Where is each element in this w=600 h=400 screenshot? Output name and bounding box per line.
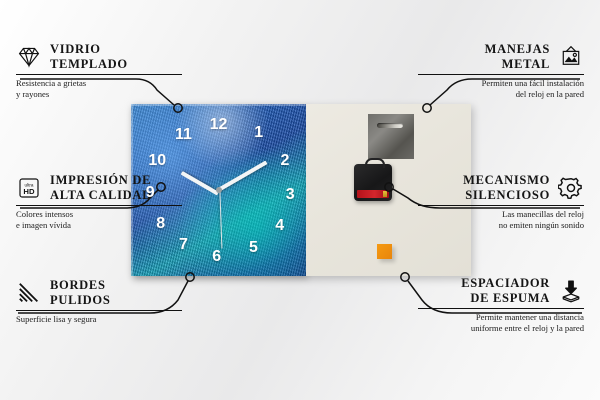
feature-rule [418,74,584,75]
clock-numeral-8: 8 [156,215,165,233]
clock-second-hand [219,191,222,249]
clock-numeral-7: 7 [179,236,188,254]
clock-numeral-6: 6 [212,248,221,266]
feature-rule [418,308,584,309]
foam-spacer [377,244,392,259]
feature-desc: Permiten una fácil instalación del reloj… [418,78,584,99]
feature-title: IMPRESIÓN DE ALTA CALIDAD [50,173,152,202]
clock-numeral-2: 2 [281,152,290,170]
clock-numeral-9: 9 [146,184,155,202]
feature-rule [16,74,182,75]
feature-mecanismo-silencioso[interactable]: MECANISMO SILENCIOSO Las manecillas del … [418,173,584,231]
clock-numeral-4: 4 [275,217,284,235]
feature-head: ESPACIADOR DE ESPUMA [418,276,584,305]
feature-desc: Superficie lisa y segura [16,314,182,325]
clock-numeral-5: 5 [249,239,258,257]
clock-hour-hand [180,171,218,195]
mechanism-loop [365,158,385,168]
feature-title: MANEJAS METAL [485,42,550,71]
clock-numeral-10: 10 [148,152,166,170]
feature-manejas-metal[interactable]: MANEJAS METAL Permiten una fácil instala… [418,42,584,100]
clock-numeral-12: 12 [210,116,228,134]
feature-title: BORDES PULIDOS [50,278,110,307]
feature-desc: Permite mantener una distancia uniforme … [418,312,584,333]
feature-head: VIDRIO TEMPLADO [16,42,182,71]
feature-head: BORDES PULIDOS [16,278,182,307]
foam-spacer-icon [558,279,584,303]
gear-icon [558,176,584,200]
feature-head: MECANISMO SILENCIOSO [418,173,584,202]
feature-head: MANEJAS METAL [418,42,584,71]
clock-center-cap [216,187,222,193]
feature-espaciador-espuma[interactable]: ESPACIADOR DE ESPUMA Permite mantener un… [418,276,584,334]
ultra-hd-icon: ultra HD [16,176,42,200]
clock-minute-hand [217,161,267,192]
feature-rule [418,205,584,206]
feature-head: ultra HD IMPRESIÓN DE ALTA CALIDAD [16,173,182,202]
wall-frame-icon [558,45,584,69]
feature-bordes-pulidos[interactable]: BORDES PULIDOS Superficie lisa y segura [16,278,182,325]
clock-numeral-11: 11 [175,126,192,144]
feature-vidrio-templado[interactable]: VIDRIO TEMPLADO Resistencia a grietas y … [16,42,182,100]
battery-label [357,190,389,198]
metal-hanger-plate [368,114,414,159]
feature-rule [16,205,182,206]
feature-rule [16,310,182,311]
infographic-stage: 12 1 2 3 4 5 6 7 8 9 10 11 [0,0,600,400]
svg-text:HD: HD [23,187,35,196]
feature-desc: Las manecillas del reloj no emiten ningú… [418,209,584,230]
polished-edges-icon [16,281,42,305]
hanger-slot [377,123,403,128]
feature-desc: Resistencia a grietas y rayones [16,78,182,99]
clock-numeral-1: 1 [254,124,263,142]
feature-title: ESPACIADOR DE ESPUMA [461,276,550,305]
diamond-icon [16,45,42,69]
feature-title: VIDRIO TEMPLADO [50,42,128,71]
feature-title: MECANISMO SILENCIOSO [463,173,550,202]
clock-numeral-3: 3 [286,186,295,204]
clock-mechanism [354,164,392,201]
